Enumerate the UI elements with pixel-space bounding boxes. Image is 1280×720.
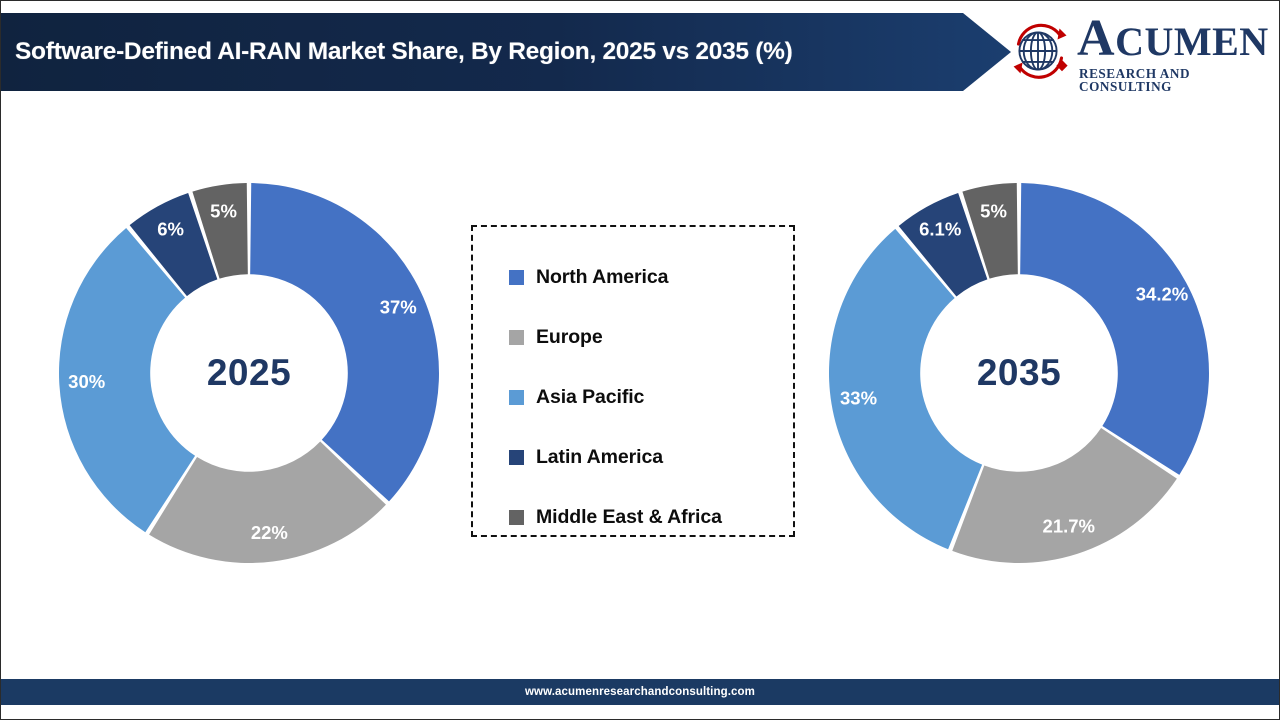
legend-item-asia-pacific[interactable]: Asia Pacific [509, 367, 793, 427]
legend-swatch-europe [509, 330, 524, 345]
legend-label-europe: Europe [536, 326, 603, 349]
logo-wordmark-initial: A [1077, 10, 1115, 67]
globe-icon [1009, 20, 1071, 87]
legend-item-latin-america[interactable]: Latin America [509, 427, 793, 487]
donut-slice[interactable] [1020, 183, 1209, 475]
donut-slice-label: 34.2% [1136, 283, 1188, 304]
brand-logo: ACUMEN RESEARCH AND CONSULTING [1009, 15, 1267, 91]
chart-legend: North America Europe Asia Pacific Latin … [471, 225, 795, 537]
legend-label-middle-east-africa: Middle East & Africa [536, 506, 722, 529]
donut-slice-label: 21.7% [1043, 516, 1095, 537]
chart-page: Software-Defined AI-RAN Market Share, By… [0, 0, 1280, 720]
donut-chart-2025: 37%22%30%6%5% 2025 [53, 177, 445, 569]
legend-swatch-middle-east-africa [509, 510, 524, 525]
legend-swatch-latin-america [509, 450, 524, 465]
legend-label-latin-america: Latin America [536, 446, 663, 469]
legend-item-europe[interactable]: Europe [509, 307, 793, 367]
legend-item-north-america[interactable]: North America [509, 247, 793, 307]
donut-slice[interactable] [250, 183, 439, 501]
donut-2035-center-label: 2035 [823, 352, 1215, 394]
legend-swatch-north-america [509, 270, 524, 285]
logo-tagline: RESEARCH AND CONSULTING [1079, 67, 1269, 93]
donut-slice-label: 22% [251, 522, 288, 543]
donut-2025-center-label: 2025 [53, 352, 445, 394]
donut-slice-label: 6.1% [919, 219, 961, 240]
legend-label-north-america: North America [536, 266, 668, 289]
footer-url[interactable]: www.acumenresearchandconsulting.com [525, 686, 755, 698]
footer-band: www.acumenresearchandconsulting.com [1, 679, 1279, 705]
logo-wordmark-rest: CUMEN [1115, 19, 1269, 64]
donut-chart-2035: 34.2%21.7%33%6.1%5% 2035 [823, 177, 1215, 569]
donut-slice-label: 5% [210, 200, 237, 221]
page-title: Software-Defined AI-RAN Market Share, By… [15, 13, 975, 91]
legend-item-middle-east-africa[interactable]: Middle East & Africa [509, 487, 793, 547]
donut-slice-label: 37% [380, 296, 417, 317]
donut-slice-label: 5% [980, 200, 1007, 221]
logo-text: ACUMEN RESEARCH AND CONSULTING [1077, 13, 1269, 93]
legend-label-asia-pacific: Asia Pacific [536, 386, 644, 409]
logo-wordmark: ACUMEN [1077, 13, 1269, 65]
legend-swatch-asia-pacific [509, 390, 524, 405]
donut-slice-label: 6% [157, 218, 184, 239]
